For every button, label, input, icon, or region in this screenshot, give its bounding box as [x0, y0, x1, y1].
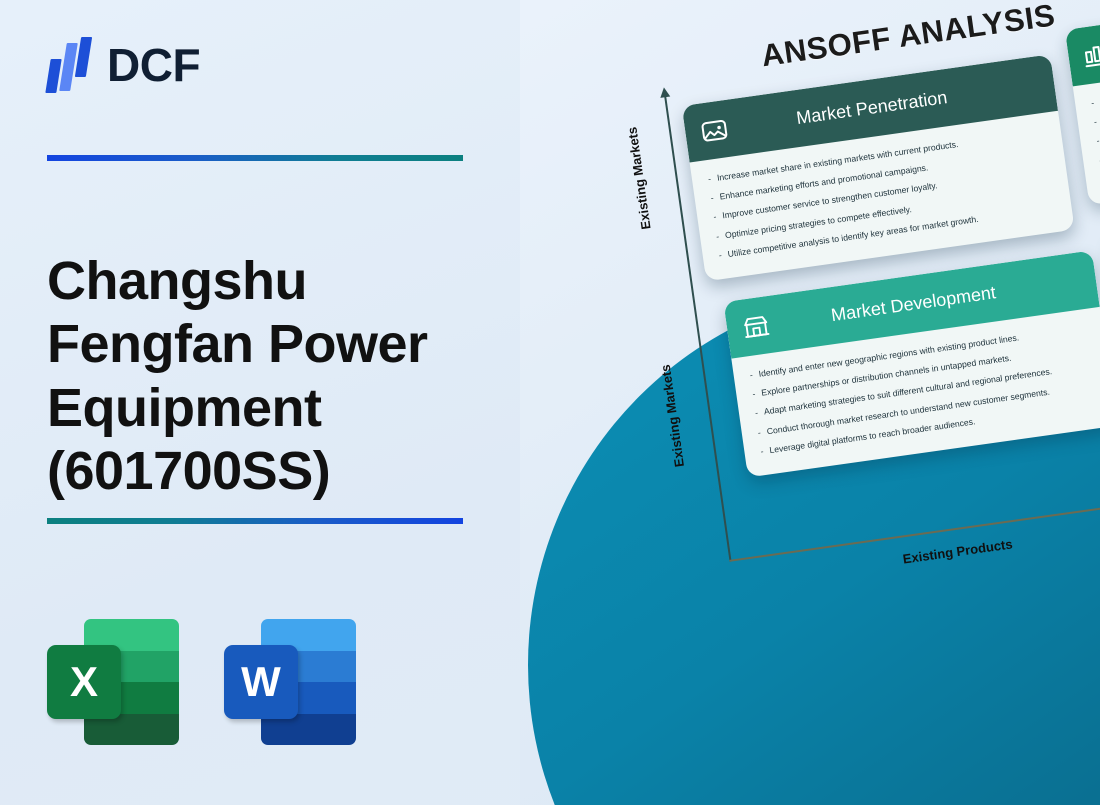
bar-chart-icon [1081, 37, 1100, 71]
word-badge-letter: W [224, 645, 298, 719]
y-axis-label-top: Existing Markets [624, 126, 653, 230]
quadrant-card-market-penetration[interactable]: Market Penetration Increase market share… [682, 54, 1075, 281]
word-file-icon[interactable]: W [224, 619, 356, 745]
image-icon [697, 113, 731, 147]
divider-bottom [47, 518, 463, 524]
y-axis-label-bottom: Existing Markets [658, 364, 687, 468]
page-root: DCF Changshu Fengfan Power Equipment (60… [0, 0, 1100, 805]
quadrant-header: Product Development [1065, 0, 1100, 86]
left-content-panel: DCF Changshu Fengfan Power Equipment (60… [0, 0, 520, 805]
brand-logo[interactable]: DCF [47, 37, 200, 93]
brand-logo-text: DCF [107, 42, 200, 88]
download-format-icons: X W [47, 619, 356, 745]
quadrant-card-product-development[interactable]: Product Development Invest in research a… [1065, 0, 1100, 205]
ansoff-artwork: ANSOFF ANALYSIS Existing Markets Existin… [520, 0, 1100, 805]
divider-top [47, 155, 463, 161]
ansoff-matrix: ANSOFF ANALYSIS Existing Markets Existin… [578, 0, 1100, 613]
three-bars-logo-icon [47, 37, 93, 93]
page-title: Changshu Fengfan Power Equipment (601700… [47, 250, 487, 503]
quadrant-card-market-development[interactable]: Market Development Identify and enter ne… [723, 250, 1100, 477]
excel-badge-letter: X [47, 645, 121, 719]
excel-file-icon[interactable]: X [47, 619, 179, 745]
x-axis-label: Existing Products [902, 536, 1014, 566]
storefront-icon [739, 309, 773, 343]
